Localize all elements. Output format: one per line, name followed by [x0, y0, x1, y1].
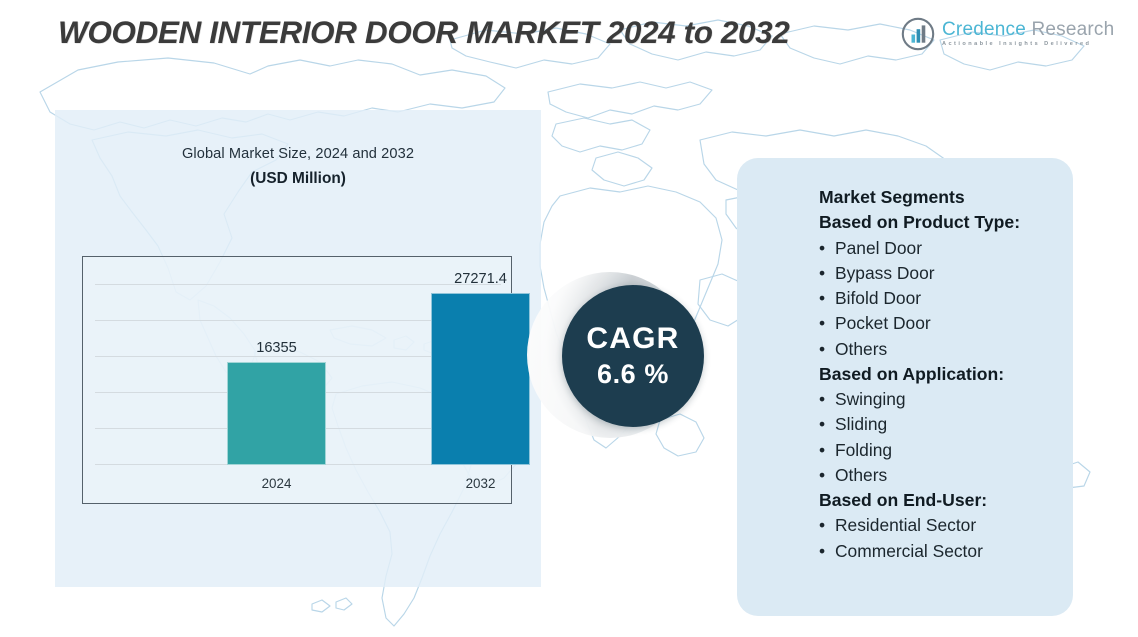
- segment-item-label: Pocket Door: [835, 313, 931, 333]
- segment-item-label: Bypass Door: [835, 263, 935, 283]
- chart-bar-2032: 27271.4: [431, 293, 530, 465]
- chart-bar-rect: [431, 293, 530, 465]
- bullet-icon: •: [819, 337, 835, 362]
- chart-subheading: (USD Million): [55, 170, 541, 188]
- segment-item: •Bifold Door: [819, 286, 1063, 311]
- market-segments-panel: Market Segments Based on Product Type:•P…: [737, 158, 1073, 616]
- logo-wordmark: Credence Research Actionable Insights De…: [942, 20, 1114, 48]
- bullet-icon: •: [819, 513, 835, 538]
- bar-chart-circle-icon: [900, 16, 936, 52]
- bullet-icon: •: [819, 539, 835, 564]
- segment-item-label: Others: [835, 339, 887, 359]
- segment-item-label: Residential Sector: [835, 515, 976, 535]
- segment-item-label: Commercial Sector: [835, 541, 983, 561]
- segment-group-title: Based on Product Type:: [819, 210, 1063, 235]
- cagr-globe: CAGR 6.6 %: [527, 272, 705, 450]
- segment-item: •Bypass Door: [819, 261, 1063, 286]
- segment-item: •Others: [819, 337, 1063, 362]
- chart-bar-2024: 16355: [227, 362, 326, 465]
- bullet-icon: •: [819, 387, 835, 412]
- cagr-badge: CAGR 6.6 %: [562, 285, 704, 427]
- segment-item: •Sliding: [819, 412, 1063, 437]
- segment-item-label: Others: [835, 465, 887, 485]
- bullet-icon: •: [819, 311, 835, 336]
- segment-group-title: Based on End-User:: [819, 488, 1063, 513]
- chart-bar-value: 16355: [256, 340, 297, 356]
- chart-bar-value: 27271.4: [454, 271, 507, 287]
- segment-group-title: Based on Application:: [819, 362, 1063, 387]
- segment-item-label: Panel Door: [835, 238, 922, 258]
- market-segments-list: Market Segments Based on Product Type:•P…: [819, 185, 1063, 564]
- cagr-label: CAGR: [586, 324, 679, 354]
- segment-item: •Panel Door: [819, 236, 1063, 261]
- chart-gridline: [95, 284, 501, 285]
- bullet-icon: •: [819, 412, 835, 437]
- segment-item: •Pocket Door: [819, 311, 1063, 336]
- segment-item: •Others: [819, 463, 1063, 488]
- bar-chart: 16355202427271.42032: [82, 256, 512, 504]
- plot-area: 16355202427271.42032: [83, 257, 511, 503]
- segment-item-label: Swinging: [835, 389, 906, 409]
- segment-item-label: Sliding: [835, 414, 887, 434]
- logo-tagline: Actionable Insights Delivered: [942, 42, 1114, 48]
- bullet-icon: •: [819, 463, 835, 488]
- page-title: WOODEN INTERIOR DOOR MARKET 2024 to 2032: [58, 14, 789, 51]
- brand-logo: Credence Research Actionable Insights De…: [900, 16, 1114, 52]
- chart-x-label-2024: 2024: [262, 476, 292, 491]
- cagr-value: 6.6 %: [597, 361, 669, 388]
- segment-item-label: Bifold Door: [835, 288, 921, 308]
- segment-item: •Residential Sector: [819, 513, 1063, 538]
- bullet-icon: •: [819, 236, 835, 261]
- chart-heading: Global Market Size, 2024 and 2032: [55, 146, 541, 162]
- logo-name: Credence Research: [942, 20, 1114, 39]
- bullet-icon: •: [819, 286, 835, 311]
- chart-panel: Global Market Size, 2024 and 2032 (USD M…: [55, 110, 541, 587]
- logo-name-first: Credence: [942, 19, 1026, 40]
- chart-bar-rect: [227, 362, 326, 465]
- segment-item: •Commercial Sector: [819, 539, 1063, 564]
- segments-heading: Market Segments: [819, 185, 1063, 210]
- bullet-icon: •: [819, 438, 835, 463]
- chart-x-label-2032: 2032: [466, 476, 496, 491]
- segment-item-label: Folding: [835, 440, 892, 460]
- segment-item: •Folding: [819, 438, 1063, 463]
- segment-item: •Swinging: [819, 387, 1063, 412]
- infographic-canvas: WOODEN INTERIOR DOOR MARKET 2024 to 2032…: [0, 0, 1138, 637]
- bullet-icon: •: [819, 261, 835, 286]
- logo-name-second: Research: [1031, 19, 1114, 40]
- header: WOODEN INTERIOR DOOR MARKET 2024 to 2032…: [0, 0, 1138, 62]
